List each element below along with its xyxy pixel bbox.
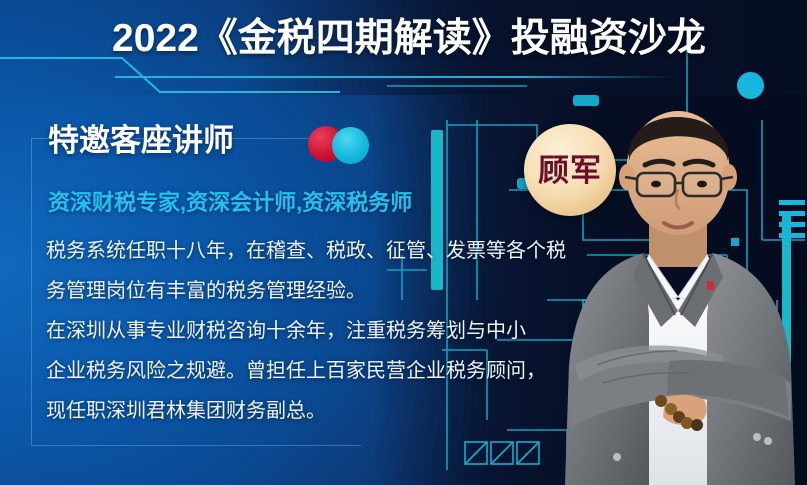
speaker-credentials: 资深财税专家,资深会计师,资深税务师 — [48, 186, 412, 220]
speaker-bio: 税务系统任职十八年，在稽查、税政、征管、发票等各个税 务管理岗位有丰富的税务管理… — [46, 231, 586, 431]
bio-line: 在深圳从事专业财税咨询十余年，注重税务筹划与中小 — [46, 311, 586, 351]
bio-line: 企业税务风险之规避。曾担任上百家民营企业税务顾问， — [46, 351, 586, 391]
bio-line: 税务系统任职十八年，在稽查、税政、征管、发票等各个税 — [46, 231, 586, 271]
decorative-circles — [308, 126, 372, 164]
bio-line: 务管理岗位有丰富的税务管理经验。 — [46, 271, 586, 311]
speaker-portrait-image — [557, 65, 805, 485]
lecturer-heading: 特邀客座讲师 — [48, 119, 234, 163]
bio-line: 现任职深圳君林集团财务副总。 — [46, 391, 586, 431]
page-title: 2022《金税四期解读》投融资沙龙 — [112, 14, 706, 64]
event-poster: 2022《金税四期解读》投融资沙龙 特邀客座讲师 资深财税专家,资深会计师,资深… — [0, 0, 807, 485]
cyan-circle-icon — [332, 127, 369, 164]
